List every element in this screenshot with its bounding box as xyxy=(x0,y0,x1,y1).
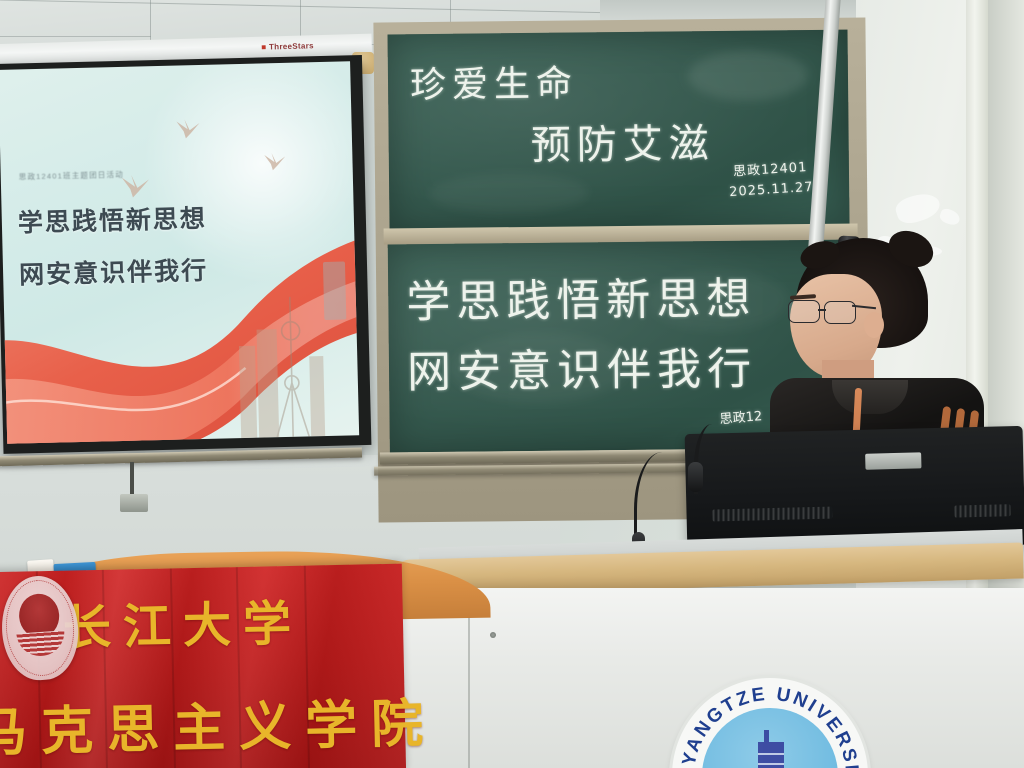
banner-line1: 长江大学 xyxy=(62,584,303,659)
projection-screen: 思政12401班主题团日活动 学思践悟新思想 网安意识伴我行 xyxy=(0,55,371,454)
classroom-photo: ■ ThreeStars xyxy=(0,0,1024,768)
slide-title: 学思践悟新思想 网安意识伴我行 xyxy=(17,193,209,302)
banner-line2: 马克思主义学院 xyxy=(0,681,438,766)
chalk-lower-line2: 网安意识伴我行 xyxy=(407,333,758,401)
logo-text: YANGTZE UNIVERSITY xyxy=(672,678,862,768)
swallow-icon xyxy=(262,151,286,172)
chalk-lower-line1: 学思践悟新思想 xyxy=(406,263,757,331)
slide-kicker: 思政12401班主题团日活动 xyxy=(19,169,124,183)
glasses-icon xyxy=(784,300,874,322)
podium-panel-seam xyxy=(468,600,470,768)
podium-screw xyxy=(490,632,496,638)
svg-text:YANGTZE UNIVERSITY: YANGTZE UNIVERSITY xyxy=(672,678,862,768)
slide-title-line1: 学思践悟新思想 xyxy=(17,193,207,250)
blackboard-upper: 珍爱生命 预防艾滋 思政12401 2025.11.27 xyxy=(388,30,850,231)
chalk-upper-signature-class: 思政12401 xyxy=(732,156,807,180)
projected-slide: 思政12401班主题团日活动 学思践悟新思想 网安意识伴我行 xyxy=(0,61,359,443)
swallow-icon xyxy=(174,117,201,140)
yangtze-university-logo: YANGTZE UNIVERSITY xyxy=(672,678,868,768)
chalk-lower-signature: 思政12 xyxy=(719,405,763,427)
microphone-head-2 xyxy=(688,462,703,492)
chalk-upper-signature-date: 2025.11.27 xyxy=(729,180,814,200)
slide-title-line2: 网安意识伴我行 xyxy=(19,245,209,302)
monitor-badge xyxy=(865,452,921,469)
logo-text-ring: YANGTZE UNIVERSITY xyxy=(672,678,868,768)
wall-bracket-stem xyxy=(130,462,134,496)
screen-brand-label: ■ ThreeStars xyxy=(261,41,314,51)
slide-side-badge xyxy=(323,261,346,320)
chalk-upper-line1: 珍爱生命 xyxy=(410,54,579,108)
wall-junction-box xyxy=(120,494,148,512)
chalk-upper-line2: 预防艾滋 xyxy=(530,111,715,171)
